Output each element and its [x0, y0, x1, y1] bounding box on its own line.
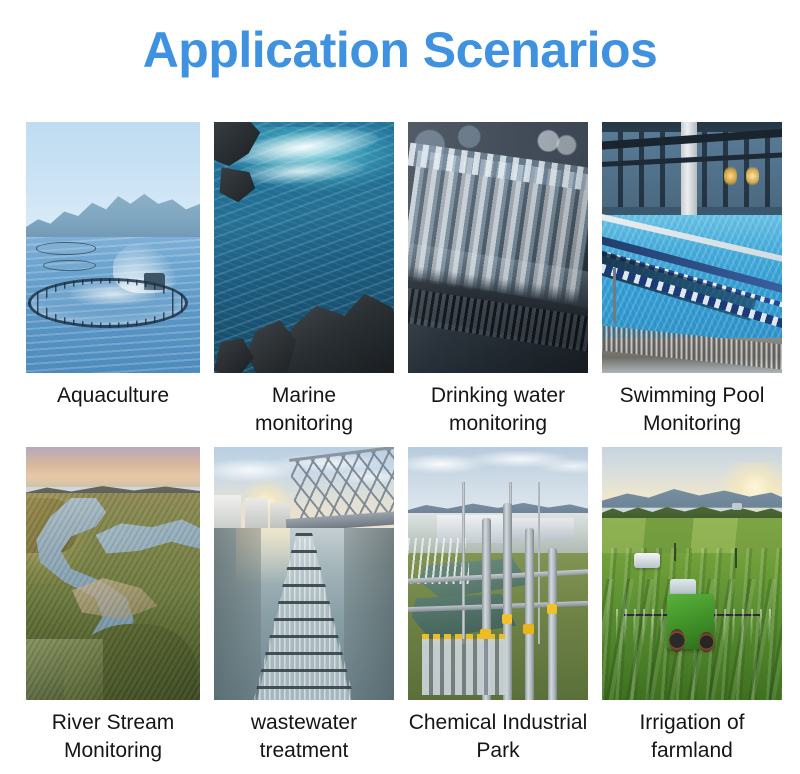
caption-line-2: monitoring — [408, 410, 588, 438]
mast-1 — [462, 482, 465, 644]
caption-wastewater: wastewater treatment — [214, 709, 394, 764]
page-title: Application Scenarios — [0, 0, 800, 80]
terrain-texture — [26, 493, 200, 700]
storage-tank-2 — [245, 498, 268, 531]
fish-cage-posts — [28, 278, 188, 328]
caption-line-2: monitoring — [214, 410, 394, 438]
caption-line-1: wastewater — [214, 709, 394, 737]
fish-cage-far-1 — [36, 242, 95, 255]
caption-drinking-water: Drinking water monitoring — [408, 382, 588, 437]
tractor-wheel-rear — [669, 629, 685, 652]
tractor-wheel-front — [699, 632, 713, 652]
storage-tank-1 — [214, 495, 241, 530]
ceiling-lamp-2 — [746, 165, 759, 188]
photo-chemical-park[interactable] — [408, 447, 588, 700]
scenario-card-irrigation[interactable]: Irrigation of farmland — [602, 447, 782, 764]
gloss-overlay — [408, 122, 588, 373]
scenario-card-aquaculture[interactable]: Aquaculture — [26, 122, 200, 437]
scenario-card-swimming-pool[interactable]: Swimming Pool Monitoring — [602, 122, 782, 437]
field-post-2 — [735, 548, 737, 568]
distillation-column-3 — [525, 528, 534, 700]
caption-irrigation: Irrigation of farmland — [602, 709, 782, 764]
caption-line-2: treatment — [214, 737, 394, 765]
caption-swimming-pool: Swimming Pool Monitoring — [602, 382, 782, 437]
yellow-valve-2 — [502, 614, 513, 624]
plant-building-2 — [512, 518, 573, 541]
field-post-1 — [674, 543, 676, 561]
photo-swimming-pool[interactable] — [602, 122, 782, 373]
basin-left — [214, 528, 261, 700]
caption-river-stream: River Stream Monitoring — [26, 709, 200, 764]
scenario-grid-row-1: Aquaculture Marine monitoring — [26, 122, 782, 437]
caption-marine-monitoring: Marine monitoring — [214, 382, 394, 437]
basin-right — [344, 528, 394, 700]
tank-cluster — [422, 639, 505, 695]
photo-marine-monitoring[interactable] — [214, 122, 394, 373]
sunset-sky — [26, 447, 200, 487]
caption-line-1: Drinking water — [408, 382, 588, 410]
pool-ladder — [613, 268, 616, 323]
caption-line-1: Swimming Pool — [602, 382, 782, 410]
photo-drinking-water[interactable] — [408, 122, 588, 373]
mast-3 — [538, 482, 541, 644]
caption-line-2: Park — [408, 737, 588, 765]
scenario-card-wastewater[interactable]: wastewater treatment — [214, 447, 394, 764]
caption-aquaculture: Aquaculture — [26, 382, 200, 410]
caption-line-1: Chemical Industrial — [408, 709, 588, 737]
scenario-card-river-stream[interactable]: River Stream Monitoring — [26, 447, 200, 764]
caption-line-2: farmland — [602, 737, 782, 765]
caption-line-1: Marine — [214, 382, 394, 410]
yellow-valve-4 — [547, 604, 558, 614]
scenario-card-drinking-water[interactable]: Drinking water monitoring — [408, 122, 588, 437]
caption-line-1: River Stream — [26, 709, 200, 737]
scenario-card-marine-monitoring[interactable]: Marine monitoring — [214, 122, 394, 437]
distillation-column-4 — [548, 548, 557, 700]
photo-irrigation[interactable] — [602, 447, 782, 700]
photo-wastewater[interactable] — [214, 447, 394, 700]
scenario-card-chemical-park[interactable]: Chemical Industrial Park — [408, 447, 588, 764]
photo-aquaculture[interactable] — [26, 122, 200, 373]
yellow-valve-3 — [523, 624, 534, 634]
caption-line-1: Irrigation of — [602, 709, 782, 737]
caption-line-2: Monitoring — [26, 737, 200, 765]
scenario-grid-row-2: River Stream Monitoring — [26, 447, 782, 764]
spray-drone-1 — [634, 553, 659, 568]
spray-drone-2 — [732, 503, 743, 511]
photo-river-stream[interactable] — [26, 447, 200, 700]
caption-line-2: Monitoring — [602, 410, 782, 438]
clouds — [408, 450, 588, 485]
application-scenarios-page: Application Scenarios Aquaculture — [0, 0, 800, 774]
caption-chemical-park: Chemical Industrial Park — [408, 709, 588, 764]
ceiling-lamp-1 — [724, 165, 737, 188]
